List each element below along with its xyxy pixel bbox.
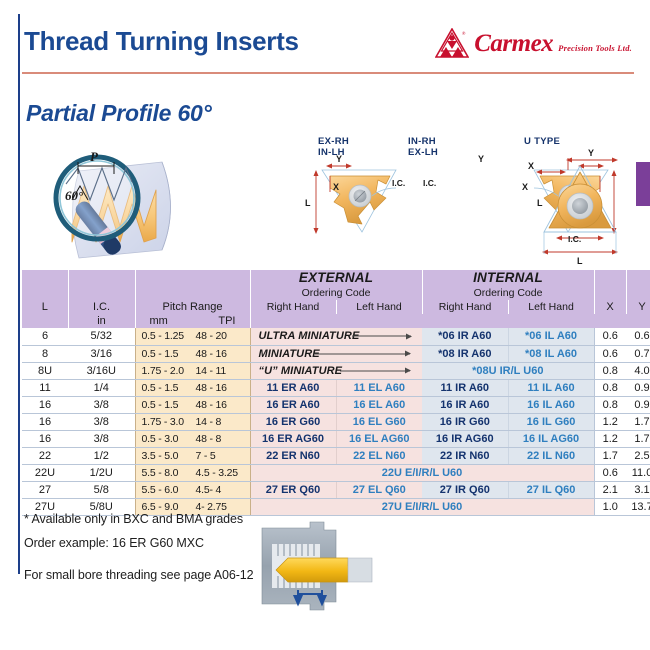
cell-pitch-mm: 0.5 - 1.5 xyxy=(142,348,204,360)
left-blue-rule xyxy=(18,14,20,574)
th-ic-main: I.C. xyxy=(69,301,135,313)
cell-pitch-tpi: 7 - 5 xyxy=(196,450,244,462)
th-int-right-hand: Right Hand xyxy=(422,300,508,314)
svg-text:I.C.: I.C. xyxy=(568,234,581,244)
cell-ic: 5/32 xyxy=(68,328,135,345)
cell-pitch-tpi: 48 - 8 xyxy=(196,433,244,445)
cell-external-left-hand: 11 EL A60 xyxy=(336,379,422,396)
cell-l: 22U xyxy=(22,464,68,481)
table-row: 163/81.75 - 3.014 - 816 ER G6016 EL G601… xyxy=(22,413,650,430)
th-x: X xyxy=(594,300,626,314)
cell-internal-left-hand: *08 IL A60 xyxy=(508,345,594,362)
cell-pitch-tpi: 14 - 8 xyxy=(196,416,244,428)
cell-y: 13.7 xyxy=(626,498,650,515)
cell-y: 0.6 xyxy=(626,328,650,345)
th-l-spacer xyxy=(22,270,68,300)
cell-pitch-range: 1.75 - 2.014 - 11 xyxy=(135,362,250,379)
svg-text:X: X xyxy=(333,182,339,192)
cell-internal-right-hand: 27 IR Q60 xyxy=(422,481,508,498)
carmex-logo: ® Carmex Precision Tools Ltd. xyxy=(435,28,632,58)
table-row: 275/85.5 - 6.04.5- 427 ER Q6027 EL Q6027… xyxy=(22,481,650,498)
pointer-arrow-icon xyxy=(352,336,411,337)
cell-pitch-mm: 0.5 - 1.5 xyxy=(142,382,204,394)
cell-external-right-hand: 16 ER A60 xyxy=(250,396,336,413)
cell-pitch-range: 0.5 - 3.048 - 8 xyxy=(135,430,250,447)
cell-external-left-hand: 22 EL N60 xyxy=(336,447,422,464)
th-external-ordering-code: Ordering Code xyxy=(250,285,422,300)
cell-l: 8U xyxy=(22,362,68,379)
cell-pitch-mm: 0.5 - 1.5 xyxy=(142,399,204,411)
th-pitch-units: mm TPI xyxy=(135,314,250,328)
cell-ic: 1/2 xyxy=(68,447,135,464)
table-row: 65/320.5 - 1.2548 - 20ULTRA MINIATURE*06… xyxy=(22,328,650,345)
cell-internal-left-hand: 22 IL N60 xyxy=(508,447,594,464)
cell-x: 0.6 xyxy=(594,345,626,362)
cell-ic: 1/4 xyxy=(68,379,135,396)
cell-series-note: “U” MINIATURE xyxy=(250,362,422,379)
section-title: Partial Profile 60° xyxy=(26,100,212,127)
cell-x: 0.8 xyxy=(594,362,626,379)
cell-external-left-hand: 27 EL Q60 xyxy=(336,481,422,498)
cell-l: 6 xyxy=(22,328,68,345)
th-ic-unit: in xyxy=(68,314,135,328)
cell-internal-left-hand: 27 IL Q60 xyxy=(508,481,594,498)
th-ext-right-hand: Right Hand xyxy=(250,300,336,314)
cell-external-right-hand: 27 ER Q60 xyxy=(250,481,336,498)
cell-internal-left-hand: *06 IL A60 xyxy=(508,328,594,345)
table-row: 163/80.5 - 1.548 - 1616 ER A6016 EL A601… xyxy=(22,396,650,413)
cell-x: 0.8 xyxy=(594,396,626,413)
svg-text:Y: Y xyxy=(336,154,342,164)
cell-pitch-range: 5.5 - 8.04.5 - 3.25 xyxy=(135,464,250,481)
th-ext-left-hand: Left Hand xyxy=(336,300,422,314)
carmex-triangle-icon: ® xyxy=(435,28,469,58)
cell-internal-right-hand: 16 IR A60 xyxy=(422,396,508,413)
cell-external-left-hand: 16 EL G60 xyxy=(336,413,422,430)
cell-external-right-hand: 22 ER N60 xyxy=(250,447,336,464)
th-int-left-hand: Left Hand xyxy=(508,300,594,314)
cell-internal-left-hand: 16 IL G60 xyxy=(508,413,594,430)
cell-l: 11 xyxy=(22,379,68,396)
page-header: Thread Turning Inserts ® Carmex Precisio… xyxy=(22,24,634,74)
cell-ic: 3/8 xyxy=(68,396,135,413)
cell-pitch-tpi: 4.5- 4 xyxy=(196,484,244,496)
cell-ic: 3/8 xyxy=(68,430,135,447)
th-ic-spacer xyxy=(68,270,135,300)
cell-ic: 3/8 xyxy=(68,413,135,430)
svg-text:I.C.: I.C. xyxy=(392,178,405,188)
small-bore-threading-illustration xyxy=(252,520,402,615)
cell-internal-left-hand: 16 IL A60 xyxy=(508,396,594,413)
cell-pitch-mm: 0.5 - 1.25 xyxy=(142,330,204,342)
cell-pitch-range: 3.5 - 5.07 - 5 xyxy=(135,447,250,464)
inserts-table: EXTERNAL INTERNAL Ordering Code Ordering… xyxy=(22,270,650,516)
cell-l: 22 xyxy=(22,447,68,464)
cell-y: 11.0 xyxy=(626,464,650,481)
cell-y: 3.1 xyxy=(626,481,650,498)
th-pitch-mm: mm xyxy=(150,315,168,327)
table-body: 65/320.5 - 1.2548 - 20ULTRA MINIATURE*06… xyxy=(22,328,650,515)
cell-pitch-mm: 0.5 - 3.0 xyxy=(142,433,204,445)
cell-pitch-tpi: 48 - 16 xyxy=(196,348,244,360)
svg-text:Y: Y xyxy=(478,154,484,164)
svg-text:L: L xyxy=(537,198,543,208)
cell-y: 0.9 xyxy=(626,379,650,396)
pointer-arrow-icon xyxy=(340,370,411,371)
cell-internal-right-hand: 16 IR AG60 xyxy=(422,430,508,447)
cell-l: 27 xyxy=(22,481,68,498)
cell-pitch-range: 0.5 - 1.548 - 16 xyxy=(135,379,250,396)
cell-pitch-mm: 3.5 - 5.0 xyxy=(142,450,204,462)
th-blank-tail xyxy=(250,314,650,328)
th-internal: INTERNAL xyxy=(422,270,594,285)
cell-y: 4.0 xyxy=(626,362,650,379)
svg-text:X: X xyxy=(528,161,534,171)
th-x-spacer xyxy=(594,270,626,300)
th-pitch-tpi: TPI xyxy=(218,315,235,327)
th-external: EXTERNAL xyxy=(250,270,422,285)
catalog-page: Thread Turning Inserts ® Carmex Precisio… xyxy=(0,0,650,650)
section-tab-marker xyxy=(636,162,650,206)
cell-series-note: ULTRA MINIATURE xyxy=(250,328,422,345)
cell-pitch-tpi: 14 - 11 xyxy=(196,365,244,377)
cell-ic: 3/16U xyxy=(68,362,135,379)
cell-y: 1.7 xyxy=(626,413,650,430)
pitch-label: P xyxy=(90,149,99,164)
angle-label: 60° xyxy=(65,188,84,203)
cell-pitch-mm: 5.5 - 6.0 xyxy=(142,484,204,496)
cell-ic: 1/2U xyxy=(68,464,135,481)
cell-pitch-range: 0.5 - 1.548 - 16 xyxy=(135,396,250,413)
cell-internal-span: *08U IR/L U60 xyxy=(422,362,594,379)
pointer-arrow-icon xyxy=(315,353,410,354)
brand-tagline: Precision Tools Ltd. xyxy=(558,43,632,53)
table-header: EXTERNAL INTERNAL Ordering Code Ordering… xyxy=(22,270,650,328)
cell-external-left-hand: 16 EL A60 xyxy=(336,396,422,413)
th-pitch-main: Pitch Range xyxy=(136,301,250,313)
th-pitch-spacer xyxy=(135,270,250,300)
cell-internal-left-hand: 16 IL AG60 xyxy=(508,430,594,447)
cell-pitch-range: 0.5 - 1.548 - 16 xyxy=(135,345,250,362)
cell-x: 1.2 xyxy=(594,413,626,430)
cell-l: 8 xyxy=(22,345,68,362)
cell-y: 0.7 xyxy=(626,345,650,362)
cell-l: 16 xyxy=(22,413,68,430)
cell-pitch-range: 0.5 - 1.2548 - 20 xyxy=(135,328,250,345)
th-l: L xyxy=(22,300,68,314)
cell-x: 1.7 xyxy=(594,447,626,464)
th-internal-ordering-code: Ordering Code xyxy=(422,285,594,300)
svg-text:Y: Y xyxy=(588,148,594,158)
table-row: 163/80.5 - 3.048 - 816 ER AG6016 EL AG60… xyxy=(22,430,650,447)
cell-x: 0.6 xyxy=(594,328,626,345)
cell-internal-right-hand: *06 IR A60 xyxy=(422,328,508,345)
cell-ordering-code-span: 22U E/I/R/L U60 xyxy=(250,464,594,481)
thread-profile-illustration: P 60° xyxy=(22,138,232,270)
cell-pitch-range: 5.5 - 6.04.5- 4 xyxy=(135,481,250,498)
cell-ic: 5/8 xyxy=(68,481,135,498)
cell-internal-right-hand: 22 IR N60 xyxy=(422,447,508,464)
header-divider xyxy=(22,72,634,74)
cell-ic: 3/16 xyxy=(68,345,135,362)
cell-pitch-tpi: 48 - 16 xyxy=(196,399,244,411)
cell-internal-left-hand: 11 IL A60 xyxy=(508,379,594,396)
cell-pitch-mm: 1.75 - 2.0 xyxy=(142,365,204,377)
cell-y: 0.9 xyxy=(626,396,650,413)
cell-pitch-range: 1.75 - 3.014 - 8 xyxy=(135,413,250,430)
inserts-table-wrap: EXTERNAL INTERNAL Ordering Code Ordering… xyxy=(22,270,630,516)
cell-pitch-mm: 1.75 - 3.0 xyxy=(142,416,204,428)
cell-l: 16 xyxy=(22,430,68,447)
cell-internal-right-hand: *08 IR A60 xyxy=(422,345,508,362)
svg-text:I.C.: I.C. xyxy=(423,178,436,188)
th-ic: I.C. xyxy=(68,300,135,314)
th-y-spacer xyxy=(626,270,650,300)
th-pitch-range: Pitch Range xyxy=(135,300,250,314)
cell-x: 0.8 xyxy=(594,379,626,396)
table-row: 8U3/16U1.75 - 2.014 - 11“U” MINIATURE*08… xyxy=(22,362,650,379)
table-row: 221/23.5 - 5.07 - 522 ER N6022 EL N6022 … xyxy=(22,447,650,464)
cell-pitch-tpi: 48 - 16 xyxy=(196,382,244,394)
insert-diagrams: EX-RHIN-LH IN-RHEX-LH U TYPE xyxy=(300,136,630,270)
svg-text:L: L xyxy=(577,256,583,266)
table-row: 22U1/2U5.5 - 8.04.5 - 3.2522U E/I/R/L U6… xyxy=(22,464,650,481)
cell-y: 2.5 xyxy=(626,447,650,464)
cell-internal-right-hand: 16 IR G60 xyxy=(422,413,508,430)
cell-external-right-hand: 16 ER AG60 xyxy=(250,430,336,447)
cell-external-right-hand: 16 ER G60 xyxy=(250,413,336,430)
page-title: Thread Turning Inserts xyxy=(24,26,299,57)
cell-series-note: MINIATURE xyxy=(250,345,422,362)
cell-external-left-hand: 16 EL AG60 xyxy=(336,430,422,447)
cell-x: 1.0 xyxy=(594,498,626,515)
cell-pitch-mm: 5.5 - 8.0 xyxy=(142,467,204,479)
th-y: Y xyxy=(626,300,650,314)
table-row: 83/160.5 - 1.548 - 16MINIATURE*08 IR A60… xyxy=(22,345,650,362)
cell-pitch-tpi: 48 - 20 xyxy=(196,330,244,342)
cell-y: 1.7 xyxy=(626,430,650,447)
cell-external-right-hand: 11 ER A60 xyxy=(250,379,336,396)
th-l-blank xyxy=(22,314,68,328)
svg-text:L: L xyxy=(305,198,311,208)
cell-l: 16 xyxy=(22,396,68,413)
cell-x: 0.6 xyxy=(594,464,626,481)
cell-pitch-tpi: 4.5 - 3.25 xyxy=(196,467,244,479)
svg-text:®: ® xyxy=(462,30,466,36)
cell-x: 2.1 xyxy=(594,481,626,498)
cell-x: 1.2 xyxy=(594,430,626,447)
svg-text:X: X xyxy=(522,182,528,192)
brand-name: Carmex xyxy=(474,31,553,56)
cell-internal-right-hand: 11 IR A60 xyxy=(422,379,508,396)
table-row: 111/40.5 - 1.548 - 1611 ER A6011 EL A601… xyxy=(22,379,650,396)
